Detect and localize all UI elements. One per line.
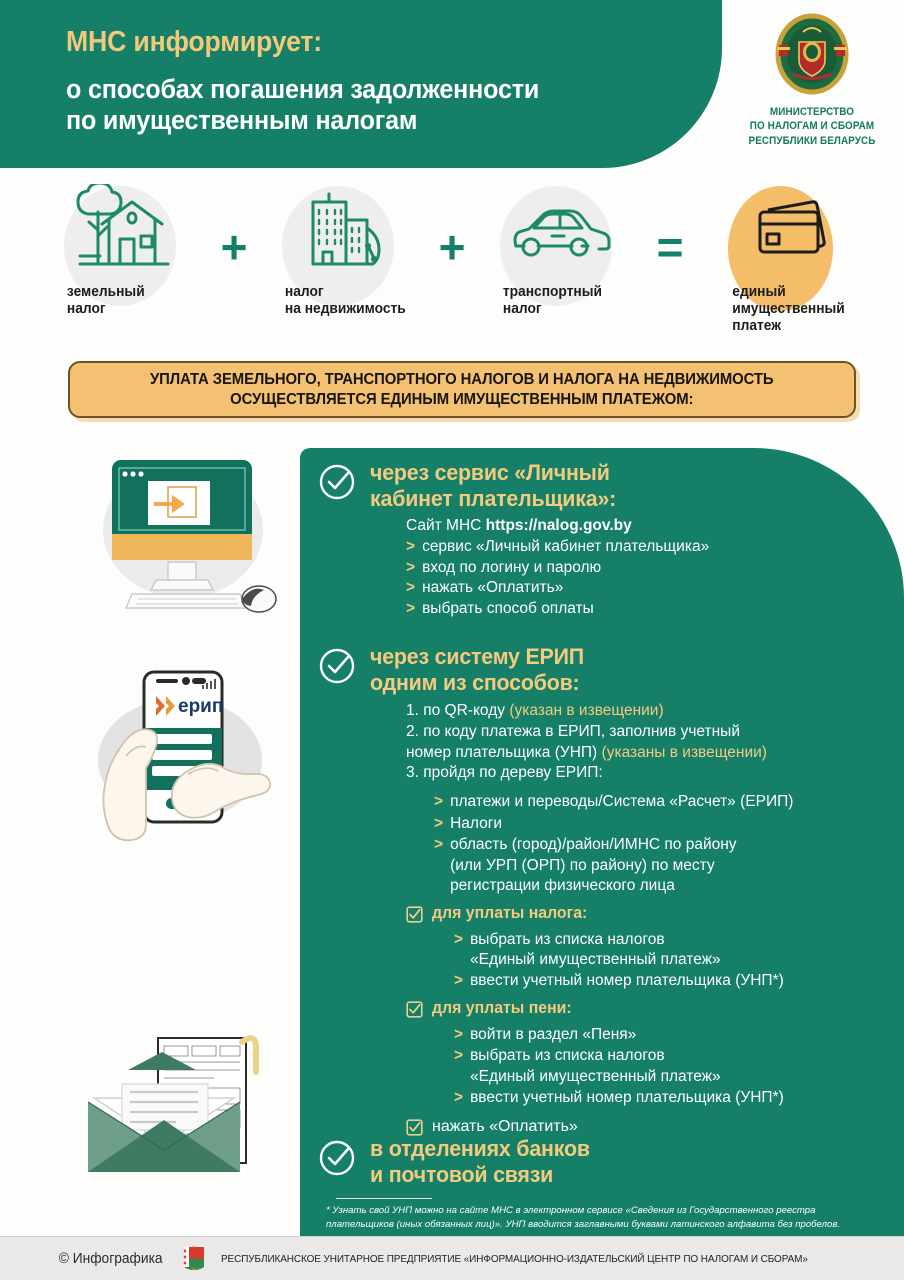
numbered-item-1: 1. по QR-коду (указан в извещении) <box>406 701 893 722</box>
subsection-penalty-payment-title: для уплаты пени: <box>432 999 572 1019</box>
numbered-item-2: 2. по коду платежа в ЕРИП, заполнив учет… <box>406 722 893 764</box>
tax-item-transport: транспортный налог <box>482 178 640 318</box>
checkbox-icon <box>406 906 423 928</box>
numbered-item-2-highlight: (указаны в извещении) <box>602 744 767 761</box>
car-icon <box>482 178 640 278</box>
list-item: >ввести учетный номер плательщика (УНП*) <box>454 1088 893 1108</box>
list-item-label: ввести учетный номер плательщика (УНП*) <box>470 1088 784 1108</box>
list-item: >выбрать способ оплаты <box>406 599 893 619</box>
page-footer: © Инфографика РЕСПУБЛИКАНСКОЕ УНИТАРНОЕ … <box>0 1236 904 1280</box>
arrow-bullet-icon: > <box>406 537 415 557</box>
checkbox-icon <box>406 1001 423 1023</box>
highlight-banner-text: УПЛАТА ЗЕМЕЛЬНОГО, ТРАНСПОРТНОГО НАЛОГОВ… <box>150 370 773 410</box>
section-2-title: через систему ЕРИП одним из способов: <box>370 644 584 696</box>
list-item-label: выбрать способ оплаты <box>422 599 594 619</box>
list-item-label: область (город)/район/ИМНС по району (ил… <box>450 835 737 896</box>
list-item-label: сервис «Личный кабинет плательщика» <box>422 537 709 557</box>
list-item: >войти в раздел «Пеня» <box>454 1025 893 1045</box>
arrow-bullet-icon: > <box>454 1046 463 1066</box>
site-prefix-label: Сайт МНС <box>406 517 486 534</box>
operator-equals: = <box>640 178 700 270</box>
site-line: Сайт МНС https://nalog.gov.by <box>406 517 893 535</box>
arrow-bullet-icon: > <box>434 814 443 834</box>
list-item-label: ввести учетный номер плательщика (УНП*) <box>470 971 784 991</box>
numbered-item-3: 3. пройдя по дереву ЕРИП: <box>406 763 893 784</box>
svg-text:ерип: ерип <box>178 696 223 717</box>
buildings-icon <box>264 178 422 278</box>
arrow-bullet-icon: > <box>406 558 415 578</box>
section-1-body: Сайт МНС https://nalog.gov.by >сервис «Л… <box>406 517 893 619</box>
arrow-bullet-icon: > <box>406 578 415 598</box>
arrow-bullet-icon: > <box>454 930 463 950</box>
tax-item-unified-payment: единый имущественный платеж <box>700 178 858 335</box>
numbered-item-3-text: 3. пройдя по дереву ЕРИП: <box>406 764 603 781</box>
operator-plus-2: + <box>422 178 482 270</box>
erip-tree-list: >платежи и переводы/Система «Расчет» (ЕР… <box>434 792 893 896</box>
house-tree-icon <box>46 178 204 278</box>
list-item: >вход по логину и паролю <box>406 558 893 578</box>
payment-methods-panel: через сервис «Личный кабинет плательщика… <box>300 448 904 1236</box>
tax-item-property: налог на недвижимость <box>264 178 422 318</box>
subsection-penalty-payment-header: для уплаты пени: <box>406 999 893 1023</box>
arrow-bullet-icon: > <box>454 1025 463 1045</box>
ministry-name-line-3: РЕСПУБЛИКИ БЕЛАРУСЬ <box>735 134 890 148</box>
arrow-bullet-icon: > <box>406 599 415 619</box>
subsection-penalty-payment-list: >войти в раздел «Пеня» >выбрать из списк… <box>454 1025 893 1109</box>
ministry-name-line-1: МИНИСТЕРСТВО <box>735 105 890 119</box>
site-url-link[interactable]: https://nalog.gov.by <box>486 517 632 534</box>
list-item: >выбрать из списка налогов «Единый имуще… <box>454 930 893 971</box>
footnote-text: * Узнать свой УНП можно на сайте МНС в э… <box>326 1204 886 1231</box>
infographic-page: МНС информирует: о способах погашения за… <box>0 0 904 1280</box>
bank-cards-icon <box>700 178 858 278</box>
section-2-header: через систему ЕРИП одним из способов: <box>318 644 893 696</box>
arrow-bullet-icon: > <box>454 971 463 991</box>
list-item-label: вход по логину и паролю <box>422 558 601 578</box>
list-item: >ввести учетный номер плательщика (УНП*) <box>454 971 893 991</box>
check-circle-icon <box>318 1139 356 1182</box>
list-item: >область (город)/район/ИМНС по району (и… <box>434 835 893 896</box>
list-item: >Налоги <box>434 814 893 834</box>
list-item-label: нажать «Оплатить» <box>422 578 563 598</box>
section-2-body: 1. по QR-коду (указан в извещении) 2. по… <box>406 701 893 1141</box>
list-item: >нажать «Оплатить» <box>406 578 893 598</box>
section-1-title: через сервис «Личный кабинет плательщика… <box>370 460 616 512</box>
section-banks-post: в отделениях банков и почтовой связи <box>318 1136 893 1188</box>
final-action-label: нажать «Оплатить» <box>432 1117 578 1136</box>
check-circle-icon <box>318 647 356 690</box>
numbered-item-1-highlight: (указан в извещении) <box>509 702 663 719</box>
list-item-label: выбрать из списка налогов «Единый имущес… <box>470 1046 721 1087</box>
section-3-title: в отделениях банков и почтовой связи <box>370 1136 590 1188</box>
arrow-bullet-icon: > <box>454 1088 463 1108</box>
subsection-tax-payment-header: для уплаты налога: <box>406 904 893 928</box>
footnote-divider <box>336 1198 432 1199</box>
list-item-label: выбрать из списка налогов «Единый имущес… <box>470 930 721 971</box>
footer-copyright: © Инфографика <box>59 1251 163 1267</box>
subsection-tax-payment-title: для уплаты налога: <box>432 904 587 924</box>
highlight-banner: УПЛАТА ЗЕМЕЛЬНОГО, ТРАНСПОРТНОГО НАЛОГОВ… <box>68 361 856 418</box>
ministry-name-line-2: ПО НАЛОГАМ И СБОРАМ <box>735 119 890 133</box>
envelope-document-icon <box>72 1026 297 1196</box>
arrow-bullet-icon: > <box>434 792 443 812</box>
ministry-emblem-block: МИНИСТЕРСТВО ПО НАЛОГАМ И СБОРАМ РЕСПУБЛ… <box>726 12 898 148</box>
list-item-label: платежи и переводы/Система «Расчет» (ЕРИ… <box>450 792 793 812</box>
check-circle-icon <box>318 463 356 506</box>
tax-item-land-label: земельный налог <box>46 284 196 318</box>
section-1-header: через сервис «Личный кабинет плательщика… <box>318 460 893 512</box>
tax-item-transport-label: транспортный налог <box>482 284 632 318</box>
hands-phone-erip-icon: ерип <box>68 652 298 882</box>
belarus-tax-ministry-emblem-icon <box>773 12 851 100</box>
section-3-header: в отделениях банков и почтовой связи <box>318 1136 893 1188</box>
footer-organization: РЕСПУБЛИКАНСКОЕ УНИТАРНОЕ ПРЕДПРИЯТИЕ «И… <box>221 1253 808 1265</box>
tax-item-unified-payment-label: единый имущественный платеж <box>700 284 850 335</box>
page-title-secondary: о способах погашения задолженности по им… <box>66 74 539 137</box>
list-item: >выбрать из списка налогов «Единый имуще… <box>454 1046 893 1087</box>
belarus-flag-icon <box>181 1245 207 1273</box>
list-item: >платежи и переводы/Система «Расчет» (ЕР… <box>434 792 893 812</box>
tax-item-land: земельный налог <box>46 178 204 318</box>
desktop-monitor-icon <box>78 452 293 632</box>
numbered-item-1-text: 1. по QR-коду <box>406 702 509 719</box>
operator-plus-1: + <box>204 178 264 270</box>
list-item: >сервис «Личный кабинет плательщика» <box>406 537 893 557</box>
tax-item-property-label: налог на недвижимость <box>264 284 414 318</box>
tax-equation-row: земельный налог + <box>0 178 904 343</box>
section-erip: через систему ЕРИП одним из способов: 1.… <box>318 644 893 1141</box>
subsection-tax-payment-list: >выбрать из списка налогов «Единый имуще… <box>454 930 893 992</box>
list-item-label: войти в раздел «Пеня» <box>470 1025 636 1045</box>
section-personal-cabinet: через сервис «Личный кабинет плательщика… <box>318 460 893 619</box>
list-item-label: Налоги <box>450 814 502 834</box>
page-title-primary: МНС информирует: <box>66 26 322 59</box>
arrow-bullet-icon: > <box>434 835 443 855</box>
